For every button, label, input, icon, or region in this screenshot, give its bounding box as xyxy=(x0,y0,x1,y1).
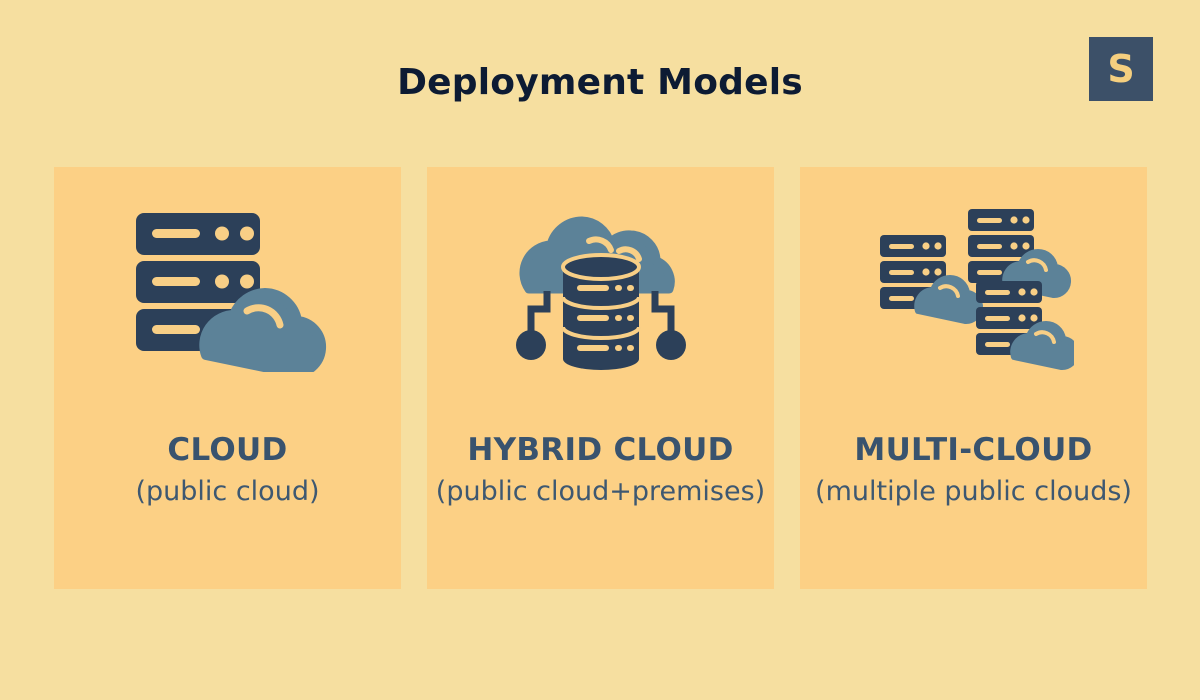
multiple-servers-with-clouds-glyph xyxy=(874,207,1074,372)
cloud-database-network-glyph xyxy=(501,205,701,375)
card-subtitle: (multiple public clouds) xyxy=(800,476,1147,507)
logo-letter: S xyxy=(1107,50,1134,88)
card-title: HYBRID CLOUD xyxy=(427,432,774,468)
card-title: CLOUD xyxy=(54,432,401,468)
card-subtitle: (public cloud) xyxy=(54,476,401,507)
logo-badge: S xyxy=(1089,37,1153,101)
card-hybrid-cloud[interactable]: HYBRID CLOUD (public cloud+premises) xyxy=(427,167,774,589)
multiple-servers-with-clouds-icon xyxy=(800,167,1147,412)
page-title: Deployment Models xyxy=(0,62,1200,103)
cloud-database-network-icon xyxy=(427,167,774,412)
infographic-canvas: Deployment Models S xyxy=(0,0,1200,700)
card-subtitle: (public cloud+premises) xyxy=(427,476,774,507)
card-multi-cloud[interactable]: MULTI-CLOUD (multiple public clouds) xyxy=(800,167,1147,589)
card-cloud[interactable]: CLOUD (public cloud) xyxy=(54,167,401,589)
card-title: MULTI-CLOUD xyxy=(800,432,1147,468)
servers-with-cloud-glyph xyxy=(128,207,328,372)
servers-with-cloud-icon xyxy=(54,167,401,412)
